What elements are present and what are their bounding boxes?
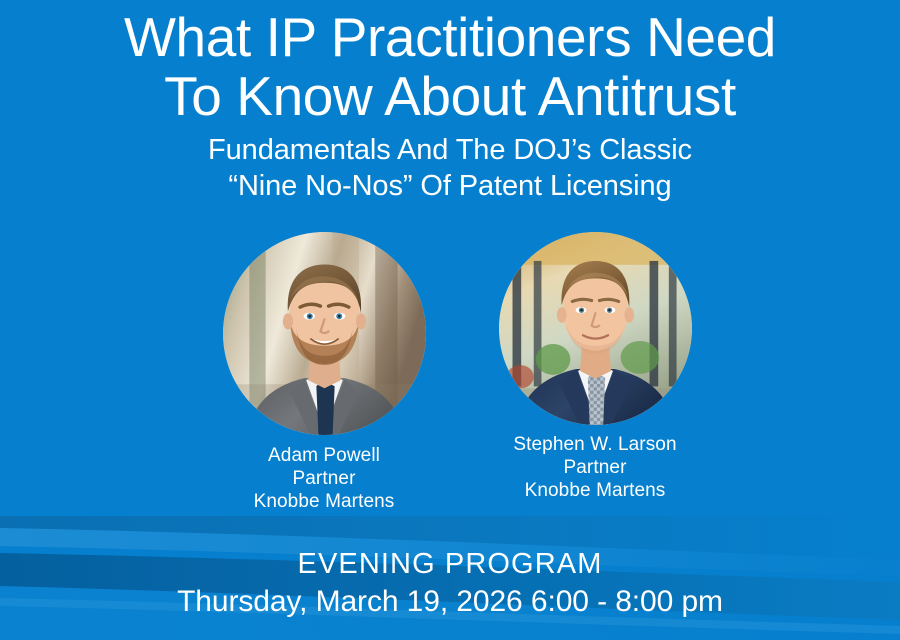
speaker-firm: Knobbe Martens bbox=[463, 479, 727, 502]
event-announcement-poster: What IP Practitioners Need To Know About… bbox=[0, 0, 900, 640]
speaker-card-adam-powell: Adam Powell Partner Knobbe Martens bbox=[192, 232, 456, 513]
speaker-portrait-adam-powell bbox=[223, 232, 426, 435]
speaker-firm: Knobbe Martens bbox=[192, 490, 456, 513]
speaker-name: Stephen W. Larson bbox=[463, 433, 727, 456]
title-line-2: To Know About Antitrust bbox=[0, 67, 900, 126]
speaker-portrait-stephen-w-larson bbox=[499, 232, 692, 425]
speaker-role: Partner bbox=[463, 456, 727, 479]
program-datetime: Thursday, March 19, 2026 6:00 - 8:00 pm bbox=[0, 584, 900, 619]
event-title: What IP Practitioners Need To Know About… bbox=[0, 8, 900, 126]
program-footer: EVENING PROGRAM Thursday, March 19, 2026… bbox=[0, 548, 900, 619]
program-label: EVENING PROGRAM bbox=[0, 548, 900, 581]
speaker-info-adam-powell: Adam Powell Partner Knobbe Martens bbox=[192, 444, 456, 513]
speaker-name: Adam Powell bbox=[192, 444, 456, 467]
subtitle-line-1: Fundamentals And The DOJ’s Classic bbox=[0, 132, 900, 168]
speakers-section: Adam Powell Partner Knobbe Martens bbox=[0, 232, 900, 522]
subtitle-line-2: “Nine No-Nos” Of Patent Licensing bbox=[0, 168, 900, 204]
speaker-role: Partner bbox=[192, 467, 456, 490]
speaker-card-stephen-w-larson: Stephen W. Larson Partner Knobbe Martens bbox=[463, 232, 727, 502]
event-subtitle: Fundamentals And The DOJ’s Classic “Nine… bbox=[0, 132, 900, 204]
headline-block: What IP Practitioners Need To Know About… bbox=[0, 8, 900, 204]
speaker-info-stephen-w-larson: Stephen W. Larson Partner Knobbe Martens bbox=[463, 433, 727, 502]
title-line-1: What IP Practitioners Need bbox=[0, 8, 900, 67]
